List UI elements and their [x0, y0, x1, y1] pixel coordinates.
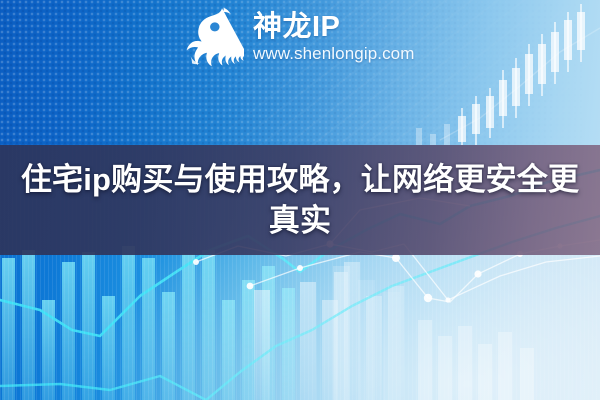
dragon-logo-icon [178, 4, 244, 70]
article-banner-image: 神龙IP www.shenlongip.com 住宅ip购买与使用攻略，让网络更… [0, 0, 600, 400]
article-title: 住宅ip购买与使用攻略，让网络更安全更真实 [20, 159, 580, 241]
brand-name: 神龙IP [253, 12, 415, 43]
brand-text-block: 神龙IP www.shenlongip.com [253, 10, 415, 64]
brand-url: www.shenlongip.com [253, 44, 415, 64]
article-title-band: 住宅ip购买与使用攻略，让网络更安全更真实 [0, 145, 600, 255]
brand-lockup: 神龙IP www.shenlongip.com [178, 2, 448, 72]
banner-header-band: 神龙IP www.shenlongip.com [0, 0, 600, 145]
